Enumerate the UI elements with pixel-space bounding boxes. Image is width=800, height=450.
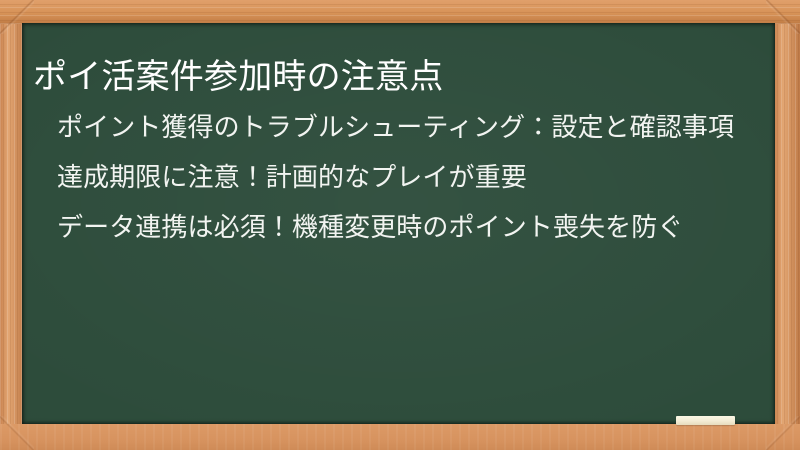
frame-rail-right xyxy=(774,0,800,450)
chalk-stick-icon xyxy=(676,416,735,425)
list-item: 達成期限に注意！計画的なプレイが重要 xyxy=(57,159,747,195)
list-item: データ連携は必須！機種変更時のポイント喪失を防ぐ xyxy=(57,209,747,245)
blackboard-slide: ポイ活案件参加時の注意点 ポイント獲得のトラブルシューティング：設定と確認事項 … xyxy=(0,0,800,450)
list-item: ポイント獲得のトラブルシューティング：設定と確認事項 xyxy=(57,109,747,145)
chalkboard-surface: ポイ活案件参加時の注意点 ポイント獲得のトラブルシューティング：設定と確認事項 … xyxy=(22,23,775,424)
frame-rail-left xyxy=(0,0,24,450)
bullet-list: ポイント獲得のトラブルシューティング：設定と確認事項 達成期限に注意！計画的なプ… xyxy=(57,109,747,259)
page-title: ポイ活案件参加時の注意点 xyxy=(33,54,763,100)
frame-ledge-bottom xyxy=(0,424,800,450)
frame-rail-top xyxy=(0,0,800,24)
